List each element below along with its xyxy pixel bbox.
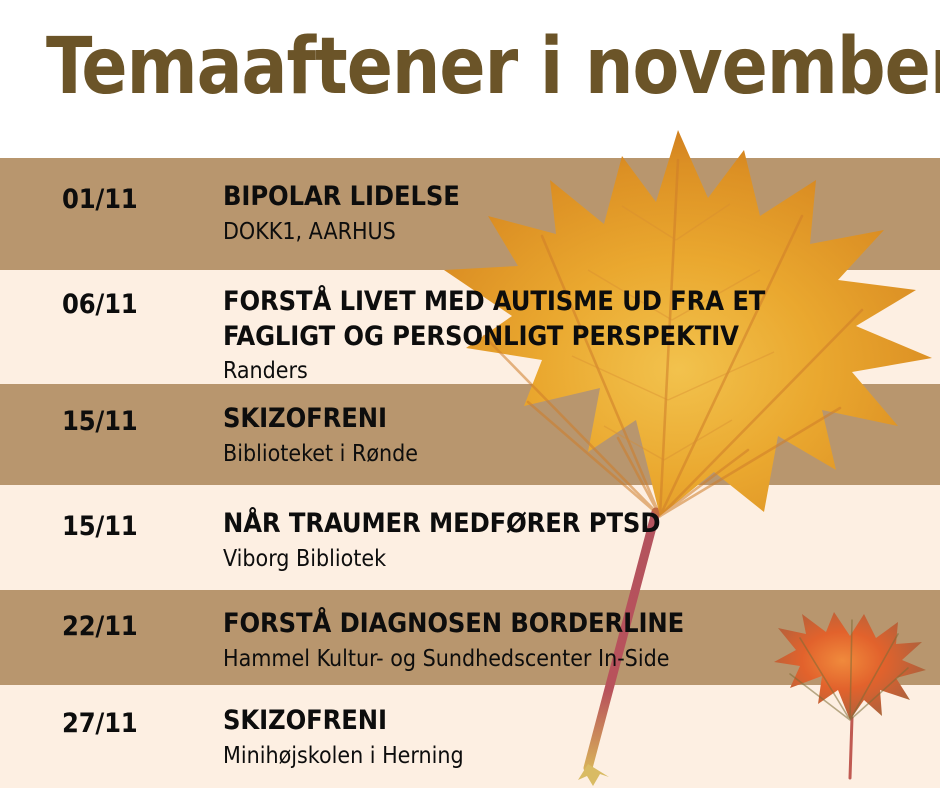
event-body: BIPOLAR LIDELSE DOKK1, AARHUS bbox=[223, 180, 932, 247]
event-place: Randers bbox=[223, 357, 843, 387]
event-date: 15/11 bbox=[62, 406, 137, 437]
list-item[interactable]: 27/11 SKIZOFRENI Minihøjskolen i Herning bbox=[0, 685, 940, 788]
poster-canvas: Temaaftener i november bbox=[0, 0, 940, 788]
event-title: NÅR TRAUMER MEDFØRER PTSD bbox=[223, 507, 932, 542]
event-place: Hammel Kultur- og Sundhedscenter In-Side bbox=[223, 645, 932, 675]
event-body: SKIZOFRENI Biblioteket i Rønde bbox=[223, 402, 932, 469]
list-item[interactable]: 15/11 NÅR TRAUMER MEDFØRER PTSD Viborg B… bbox=[0, 485, 940, 590]
event-title: FORSTÅ LIVET MED AUTISME UD FRA ET FAGLI… bbox=[223, 285, 843, 354]
event-date: 06/11 bbox=[62, 289, 137, 320]
event-body: FORSTÅ DIAGNOSEN BORDERLINE Hammel Kultu… bbox=[223, 607, 932, 674]
event-body: NÅR TRAUMER MEDFØRER PTSD Viborg Bibliot… bbox=[223, 507, 932, 574]
list-item[interactable]: 06/11 FORSTÅ LIVET MED AUTISME UD FRA ET… bbox=[0, 270, 940, 384]
list-item[interactable]: 22/11 FORSTÅ DIAGNOSEN BORDERLINE Hammel… bbox=[0, 590, 940, 685]
event-title: FORSTÅ DIAGNOSEN BORDERLINE bbox=[223, 607, 932, 642]
event-place: Biblioteket i Rønde bbox=[223, 440, 932, 470]
event-date: 01/11 bbox=[62, 184, 137, 215]
event-title: SKIZOFRENI bbox=[223, 704, 932, 739]
list-item[interactable]: 15/11 SKIZOFRENI Biblioteket i Rønde bbox=[0, 384, 940, 485]
event-date: 27/11 bbox=[62, 708, 137, 739]
list-item[interactable]: 01/11 BIPOLAR LIDELSE DOKK1, AARHUS bbox=[0, 158, 940, 270]
event-place: Viborg Bibliotek bbox=[223, 545, 932, 575]
event-body: FORSTÅ LIVET MED AUTISME UD FRA ET FAGLI… bbox=[223, 285, 843, 387]
poster-header: Temaaftener i november bbox=[0, 0, 940, 158]
event-title: SKIZOFRENI bbox=[223, 402, 932, 437]
event-place: Minihøjskolen i Herning bbox=[223, 742, 932, 772]
event-date: 15/11 bbox=[62, 511, 137, 542]
event-title: BIPOLAR LIDELSE bbox=[223, 180, 932, 215]
page-title: Temaaftener i november bbox=[46, 26, 940, 109]
event-place: DOKK1, AARHUS bbox=[223, 218, 932, 248]
event-body: SKIZOFRENI Minihøjskolen i Herning bbox=[223, 704, 932, 771]
event-date: 22/11 bbox=[62, 611, 137, 642]
